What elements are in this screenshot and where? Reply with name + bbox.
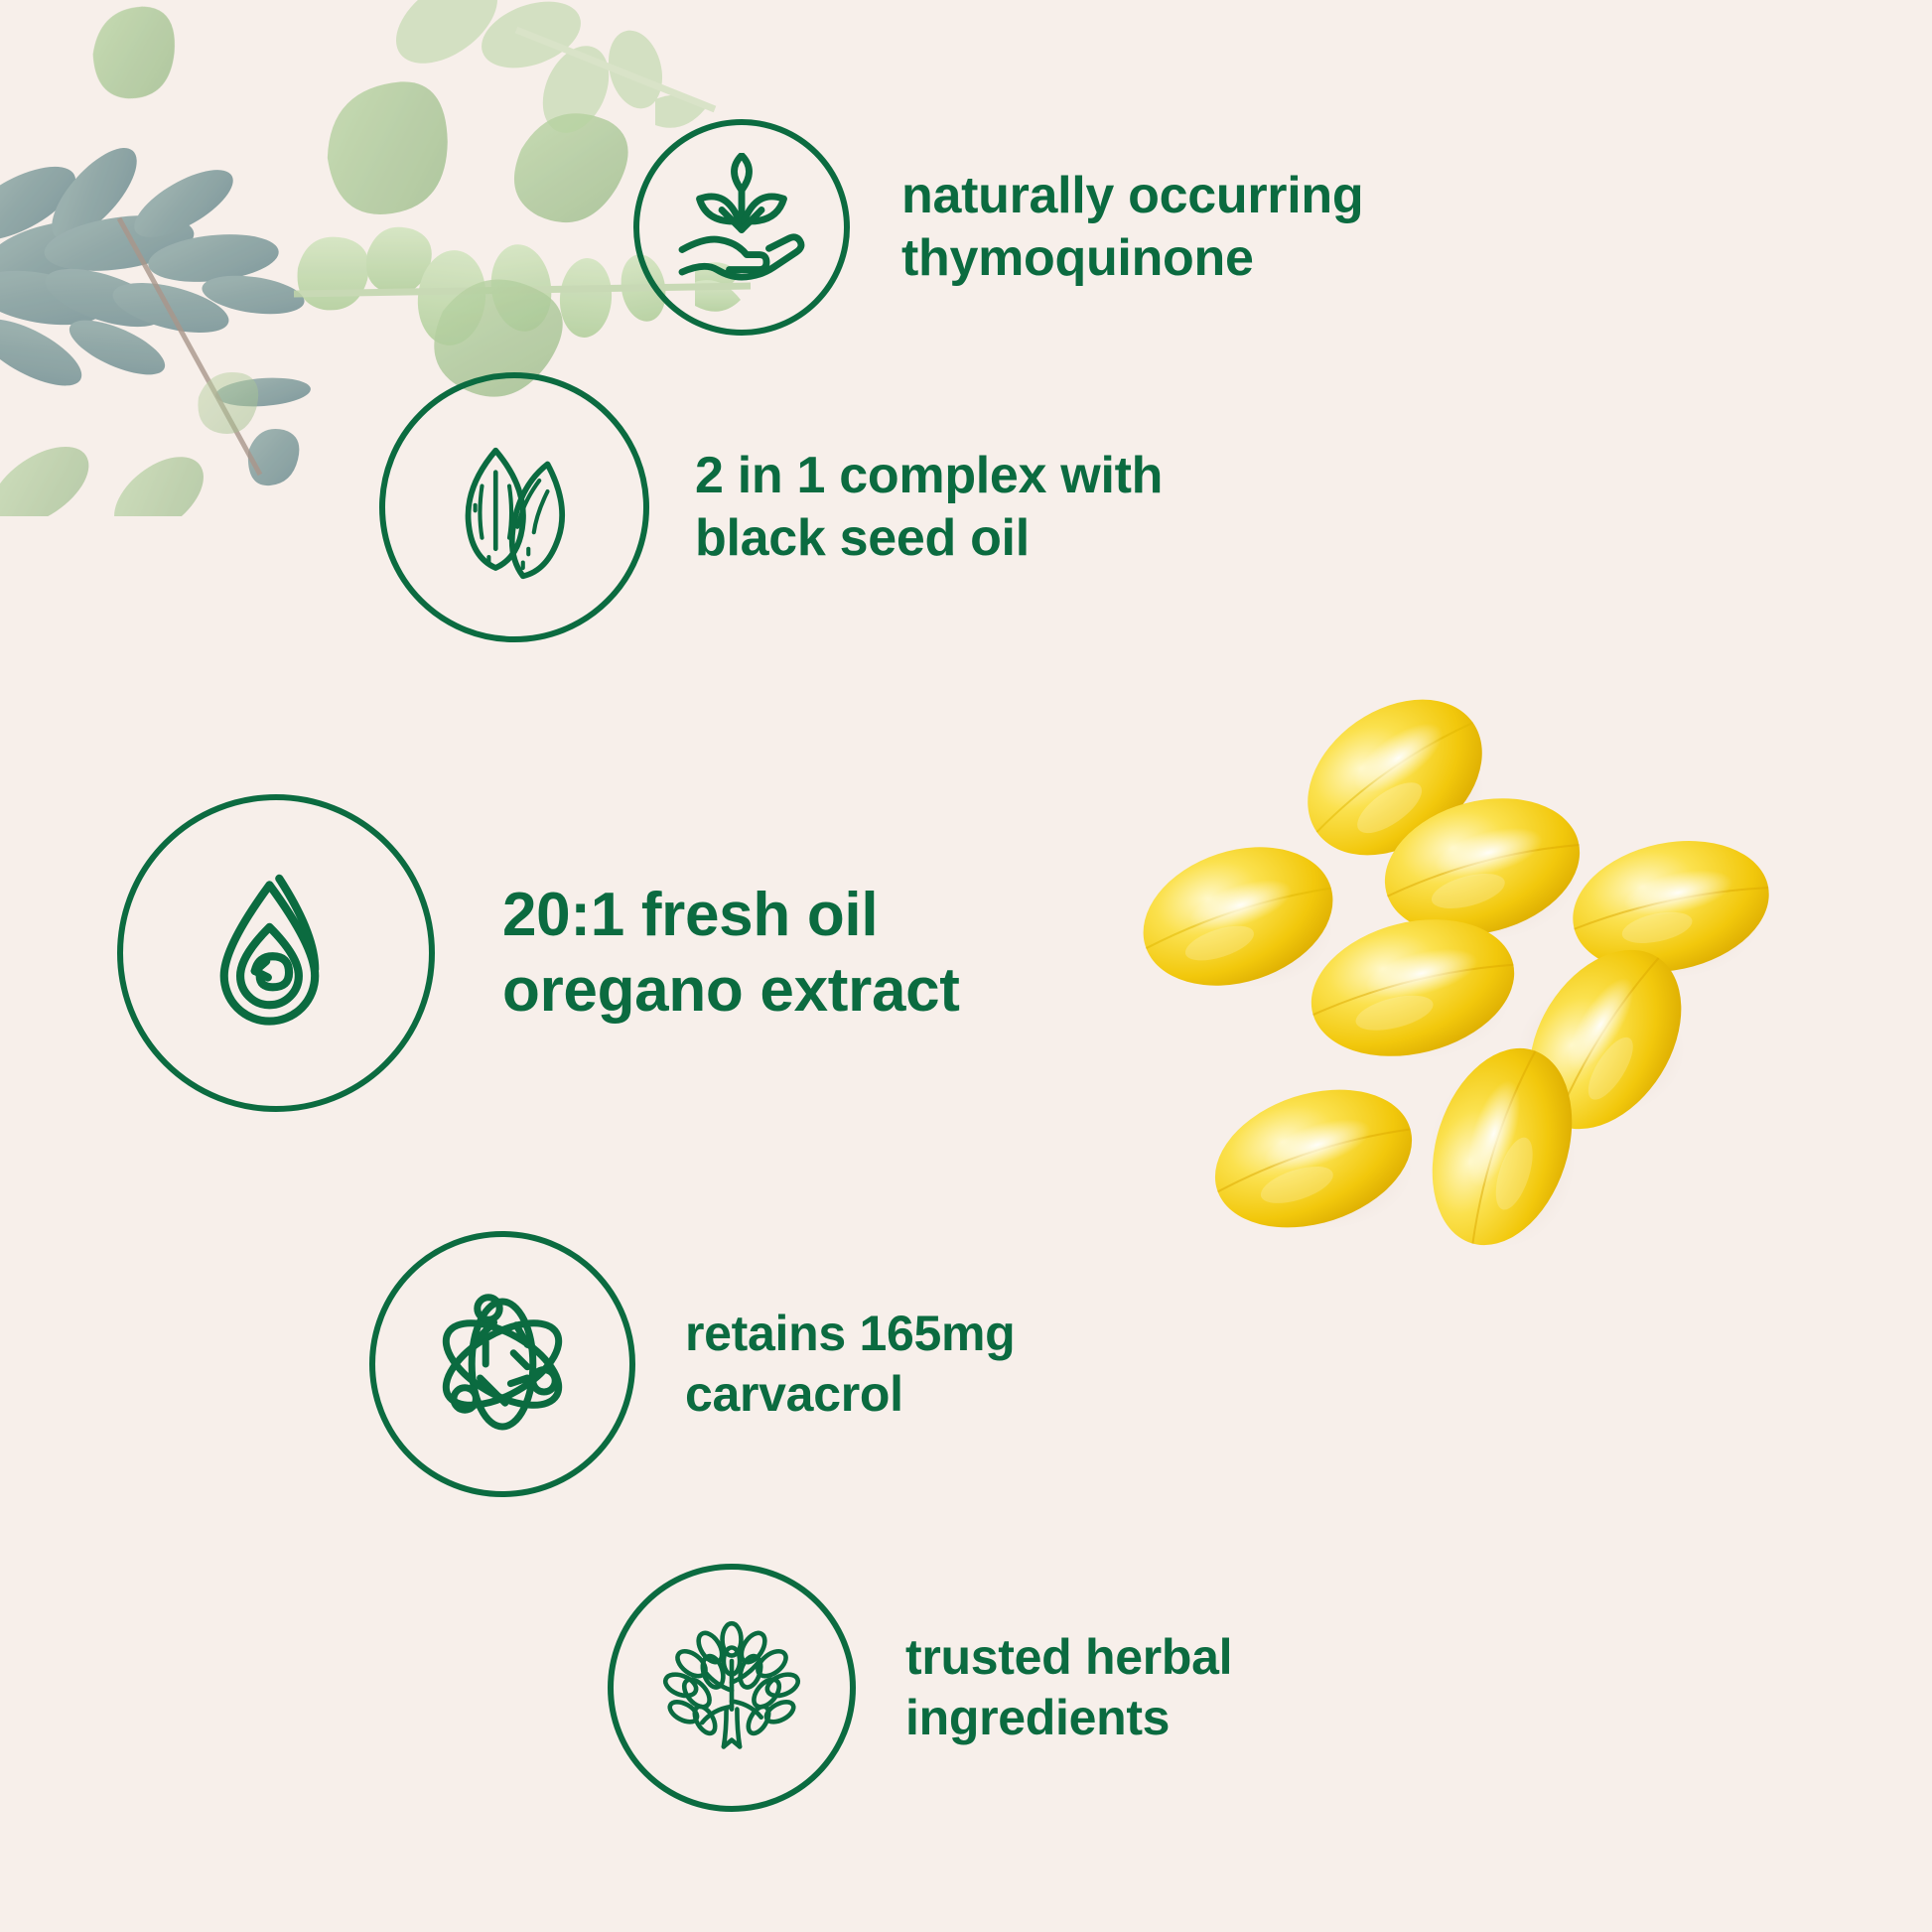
feature-row-black-seed-oil: 2 in 1 complex with black seed oil [379,372,1163,642]
feature-label: 20:1 fresh oil oregano extract [502,878,960,1028]
feature-row-thymoquinone: naturally occurring thymoquinone [633,119,1363,336]
feature-label: naturally occurring thymoquinone [901,165,1363,291]
hand-holding-sprout-icon [633,119,850,336]
feature-label: retains 165mg carvacrol [685,1304,1015,1425]
feature-label: trusted herbal ingredients [905,1627,1232,1748]
oil-droplet-spiral-icon [117,794,435,1112]
black-seeds-icon [379,372,649,642]
infographic-canvas: naturally occurring thymoquinone 2 in 1 … [0,0,1932,1932]
feature-row-herbal-ingredients: trusted herbal ingredients [608,1564,1232,1812]
feature-row-oregano-extract: 20:1 fresh oil oregano extract [117,794,960,1112]
herbal-tree-icon [608,1564,856,1812]
golden-softgel-capsules [1097,650,1792,1345]
feature-label: 2 in 1 complex with black seed oil [695,445,1163,571]
atom-molecule-icon [369,1231,635,1497]
feature-row-carvacrol: retains 165mg carvacrol [369,1231,1015,1497]
